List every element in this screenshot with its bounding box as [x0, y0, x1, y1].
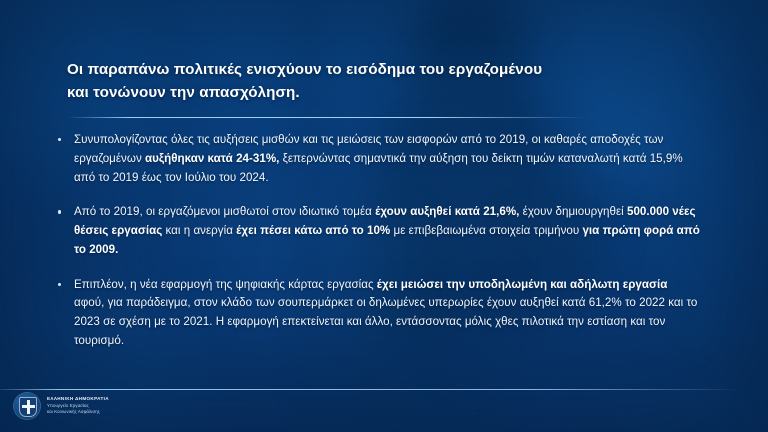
- bullet-dot-icon: [58, 138, 61, 141]
- title-divider: [67, 117, 588, 118]
- slide-title-line-1: Οι παραπάνω πολιτικές ενισχύουν το εισόδ…: [67, 58, 707, 81]
- bullet-list: Συνυπολογίζοντας όλες τις αυξήσεις μισθώ…: [50, 131, 700, 367]
- slide-title-line-2: και τονώνουν την απασχόληση.: [67, 81, 707, 104]
- list-item: Συνυπολογίζοντας όλες τις αυξήσεις μισθώ…: [50, 131, 700, 187]
- org-name-line-3: και Κοινωνικής Ασφάλισης: [47, 409, 109, 415]
- list-item: Από το 2019, οι εργαζόμενοι μισθωτοί στο…: [50, 203, 700, 259]
- ministry-logo-text: ΕΛΛΗΝΙΚΗ ΔΗΜΟΚΡΑΤΙΑ Υπουργείο Εργασίας κ…: [47, 396, 109, 415]
- list-item: Επιπλέον, η νέα εφαρμογή της ψηφιακής κά…: [50, 276, 700, 351]
- emphasis-text: έχει μειώσει την υποδηλωμένη και αδήλωτη…: [377, 278, 668, 291]
- list-item-text: Από το 2019, οι εργαζόμενοι μισθωτοί στο…: [74, 203, 700, 259]
- ministry-logo: ΕΛΛΗΝΙΚΗ ΔΗΜΟΚΡΑΤΙΑ Υπουργείο Εργασίας κ…: [14, 393, 109, 419]
- cross-horizontal: [22, 405, 35, 408]
- greek-coat-of-arms-icon: [14, 393, 40, 419]
- emphasis-text: έχουν αυξηθεί κατά 21,6%,: [375, 205, 519, 218]
- bullet-dot-icon: [58, 210, 61, 213]
- presentation-slide: Οι παραπάνω πολιτικές ενισχύουν το εισόδ…: [0, 0, 768, 432]
- body-text: έχουν δημιουργηθεί: [519, 205, 627, 218]
- org-name-line-1: ΕΛΛΗΝΙΚΗ ΔΗΜΟΚΡΑΤΙΑ: [47, 396, 109, 403]
- body-text: Από το 2019, οι εργαζόμενοι μισθωτοί στο…: [74, 205, 375, 218]
- emphasis-text: αυξήθηκαν κατά 24-31%,: [145, 152, 279, 165]
- shield-shape: [19, 397, 37, 417]
- emphasis-text: έχει πέσει κάτω από το 10%: [236, 224, 390, 237]
- slide-title: Οι παραπάνω πολιτικές ενισχύουν το εισόδ…: [67, 58, 707, 104]
- list-item-text: Συνυπολογίζοντας όλες τις αυξήσεις μισθώ…: [74, 131, 700, 187]
- body-text: Επιπλέον, η νέα εφαρμογή της ψηφιακής κά…: [74, 278, 377, 291]
- body-text: και η ανεργία: [162, 224, 236, 237]
- body-text: αφού, για παράδειγμα, στον κλάδο των σου…: [74, 296, 697, 347]
- slide-content: Οι παραπάνω πολιτικές ενισχύουν το εισόδ…: [0, 0, 768, 432]
- bullet-dot-icon: [58, 283, 61, 286]
- body-text: με επιβεβαιωμένα στοιχεία τριμήνου: [390, 224, 582, 237]
- footer-divider: [0, 389, 740, 390]
- list-item-text: Επιπλέον, η νέα εφαρμογή της ψηφιακής κά…: [74, 276, 700, 351]
